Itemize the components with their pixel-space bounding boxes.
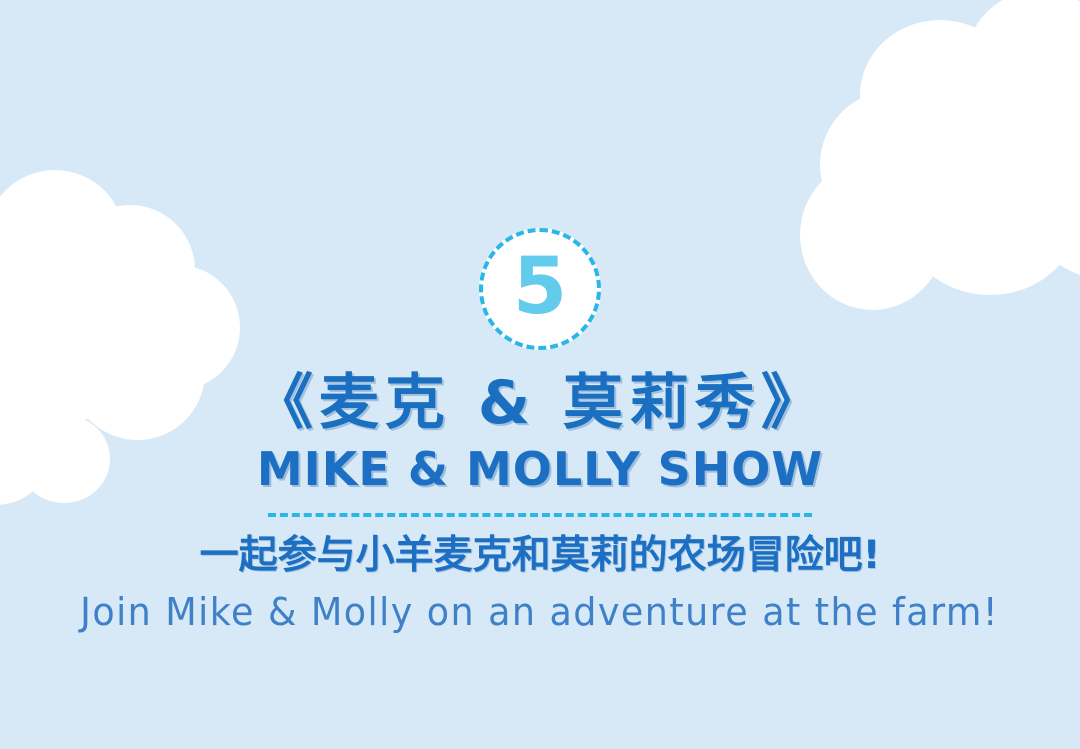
poster-content: 5 《麦克 & 莫莉秀》 MIKE & MOLLY SHOW 一起参与小羊麦克和…: [0, 0, 1080, 749]
poster-canvas: 5 《麦克 & 莫莉秀》 MIKE & MOLLY SHOW 一起参与小羊麦克和…: [0, 0, 1080, 749]
dashed-divider: [268, 513, 812, 517]
page-title-chinese: 《麦克 & 莫莉秀》: [253, 372, 827, 435]
tagline-chinese: 一起参与小羊麦克和莫莉的农场冒险吧!: [200, 535, 881, 578]
page-title-english: MIKE & MOLLY SHOW: [257, 445, 823, 493]
tagline-english: Join Mike & Molly on an adventure at the…: [81, 592, 1000, 634]
step-number: 5: [513, 248, 567, 326]
step-number-badge: 5: [479, 228, 601, 350]
